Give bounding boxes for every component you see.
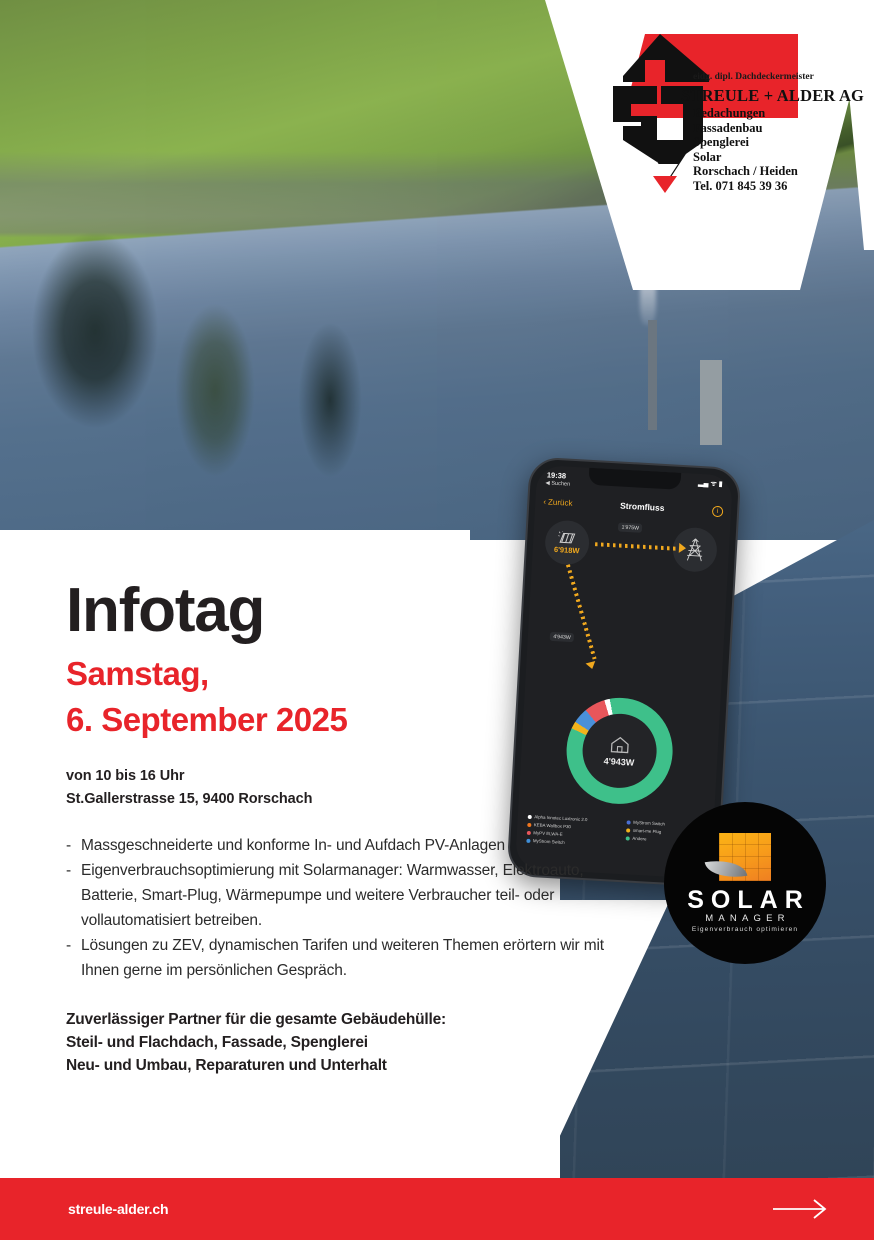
legend-color-dot [626, 828, 630, 832]
company-logo: eidg. dipl. Dachdeckermeister STREULE + … [605, 30, 815, 195]
bullet-marker: - [66, 933, 81, 983]
status-back-label: Suchen [551, 481, 570, 488]
screen-title: Stromfluss [620, 501, 665, 513]
legend-color-dot [626, 836, 630, 840]
event-details: von 10 bis 16 Uhr St.Gallerstrasse 15, 9… [66, 765, 626, 811]
badge-brand-sub: MANAGER [700, 913, 789, 925]
logo-service-line: Fassadenbau [693, 121, 798, 136]
event-address: St.Gallerstrasse 15, 9400 Rorschach [66, 788, 626, 811]
flow-line-to-grid [595, 542, 677, 551]
logo-service-line: Solar [693, 150, 798, 165]
bullet-item: -Eigenverbrauchsoptimierung mit Solarman… [66, 858, 626, 933]
pv-value: 6'918W [554, 544, 580, 554]
back-button-label: Zurück [548, 497, 573, 507]
badge-brand: SOLAR [680, 887, 810, 913]
solar-panel-logo-icon [719, 833, 771, 881]
bullet-list: -Massgeschneiderte und konforme In- und … [66, 833, 626, 983]
logo-service-line: Rorschach / Heiden [693, 164, 798, 179]
info-icon[interactable]: i [712, 505, 724, 517]
silo [700, 360, 722, 445]
factory-chimney [648, 320, 657, 430]
bullet-text: Massgeschneiderte und konforme In- und A… [81, 833, 626, 858]
logo-service-line: Bedachungen [693, 106, 798, 121]
footer-bar: streule-alder.ch [0, 1178, 874, 1240]
power-pylon-icon [683, 537, 706, 562]
logo-service-line: Tel. 071 845 39 36 [693, 179, 798, 194]
logo-service-line: Spenglerei [693, 135, 798, 150]
badge-claim: Eigenverbrauch optimieren [692, 926, 798, 933]
solarmanager-badge: SOLAR MANAGER Eigenverbrauch optimieren [664, 802, 826, 964]
solar-panel-icon [558, 531, 577, 545]
website-url[interactable]: streule-alder.ch [68, 1201, 168, 1217]
main-content: Infotag Samstag, 6. September 2025 von 1… [66, 575, 626, 1077]
grid-flow-label: 1'975W [618, 522, 643, 532]
status-icons: ▂▄ ᯤ ▮ [698, 478, 723, 488]
bullet-text: Eigenverbrauchsoptimierung mit Solarmana… [81, 858, 626, 933]
status-back-to-search[interactable]: ◀ Suchen [545, 480, 570, 487]
logo-services: BedachungenFassadenbauSpenglereiSolarRor… [693, 106, 798, 193]
closing-line-1: Zuverlässiger Partner für die gesamte Ge… [66, 1008, 626, 1031]
closing-statement: Zuverlässiger Partner für die gesamte Ge… [66, 1008, 626, 1077]
back-button[interactable]: ‹ Zurück [543, 497, 573, 508]
event-date-line2: 6. September 2025 [66, 697, 626, 743]
poster: eidg. dipl. Dachdeckermeister STREULE + … [0, 0, 874, 1240]
legend-label: Andere [632, 835, 647, 844]
status-time: 19:38 [547, 470, 567, 480]
logo-qualification: eidg. dipl. Dachdeckermeister [693, 72, 814, 82]
legend-color-dot [627, 820, 631, 824]
bullet-marker: - [66, 858, 81, 933]
closing-line-2: Steil- und Flachdach, Fassade, Spenglere… [66, 1031, 626, 1054]
leaf-icon [705, 856, 748, 882]
closing-line-3: Neu- und Umbau, Reparaturen und Unterhal… [66, 1054, 626, 1077]
pv-node[interactable]: 6'918W [544, 519, 590, 565]
bullet-marker: - [66, 833, 81, 858]
bullet-text: Lösungen zu ZEV, dynamischen Tarifen und… [81, 933, 626, 983]
arrow-right-icon[interactable] [772, 1198, 828, 1220]
bullet-item: -Massgeschneiderte und konforme In- und … [66, 833, 626, 858]
event-date-line1: Samstag, [66, 651, 626, 697]
page-title: Infotag [66, 575, 626, 647]
flow-arrow-to-grid-icon [679, 543, 687, 553]
bullet-item: -Lösungen zu ZEV, dynamischen Tarifen un… [66, 933, 626, 983]
chevron-left-icon: ‹ [543, 497, 546, 506]
event-time: von 10 bis 16 Uhr [66, 765, 626, 788]
logo-company-name: STREULE + ALDER AG [681, 86, 821, 106]
